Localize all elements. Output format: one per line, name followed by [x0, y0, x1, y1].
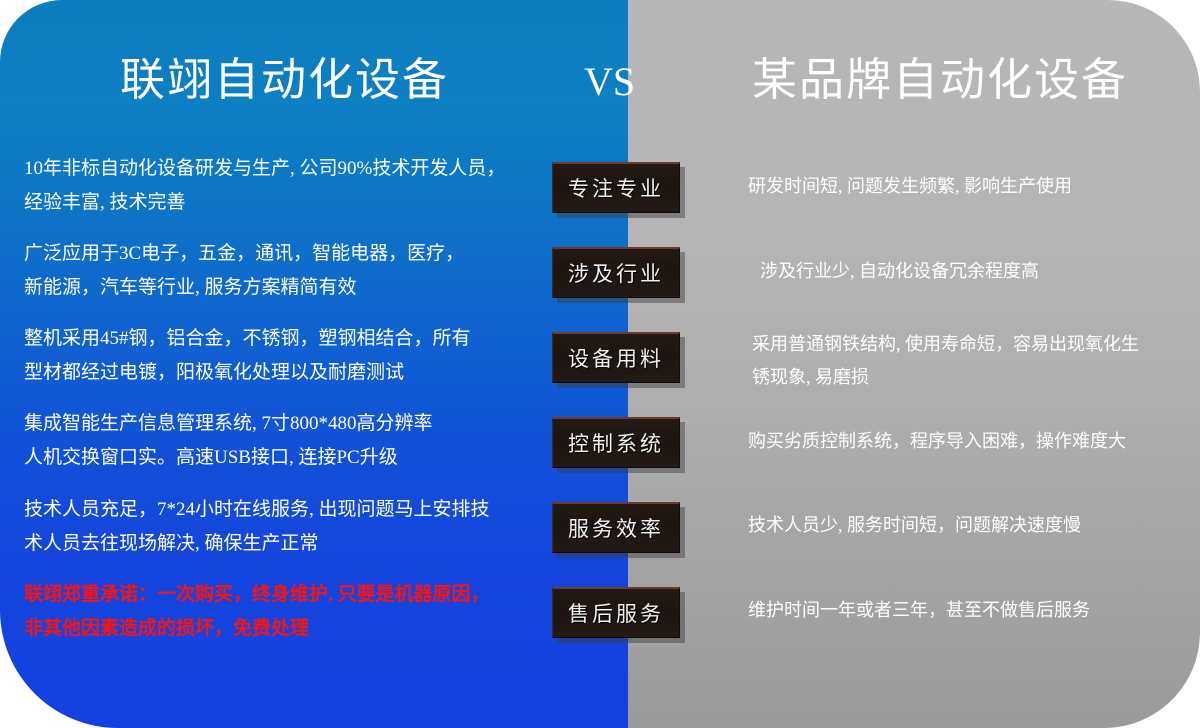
feature-line: 整机采用45#钢，铝合金，不锈钢，塑钢相结合，所有 — [24, 322, 471, 356]
category-badge: 服务效率 — [552, 502, 680, 553]
brand-feature-item: 技术人员充足，7*24小时在线服务, 出现问题马上安排技 术人员去往现场解决, … — [24, 493, 490, 561]
competitor-feature-item: 采用普通钢铁结构, 使用寿命短，容易出现氧化生 锈现象, 易磨损 — [752, 328, 1139, 394]
feature-line: 锈现象, 易磨损 — [752, 361, 1139, 394]
feature-line: 术人员去往现场解决, 确保生产正常 — [24, 527, 490, 561]
category-badge: 售后服务 — [552, 587, 680, 638]
feature-line: 新能源，汽车等行业, 服务方案精简有效 — [24, 271, 464, 305]
category-badge: 设备用料 — [552, 332, 680, 383]
category-badge-label: 涉及行业 — [568, 258, 664, 288]
competitor-feature-item: 研发时间短, 问题发生频繁, 影响生产使用 — [748, 170, 1072, 203]
category-badge-label: 售后服务 — [568, 598, 664, 628]
feature-line: 10年非标自动化设备研发与生产, 公司90%技术开发人员， — [24, 152, 505, 186]
feature-line: 广泛应用于3C电子，五金，通讯，智能电器，医疗， — [24, 237, 464, 271]
category-badge: 控制系统 — [552, 417, 680, 468]
brand-feature-item: 集成智能生产信息管理系统, 7寸800*480高分辨率 人机交换窗口实。高速US… — [24, 407, 433, 475]
category-badge-label: 控制系统 — [568, 428, 664, 458]
competitor-feature-item: 购买劣质控制系统，程序导入困难，操作难度大 — [748, 425, 1126, 458]
brand-guarantee-note: 联翊郑重承诺：一次购买，终身维护, 只要是机器原因， 非其他因素造成的损坏，免费… — [24, 578, 490, 646]
vs-label: VS — [584, 62, 635, 102]
guarantee-line: 联翊郑重承诺：一次购买，终身维护, 只要是机器原因， — [24, 578, 490, 612]
competitor-feature-item: 涉及行业少, 自动化设备冗余程度高 — [760, 255, 1039, 288]
feature-line: 集成智能生产信息管理系统, 7寸800*480高分辨率 — [24, 407, 433, 441]
feature-line: 人机交换窗口实。高速USB接口, 连接PC升级 — [24, 441, 433, 475]
brand-feature-item: 广泛应用于3C电子，五金，通讯，智能电器，医疗， 新能源，汽车等行业, 服务方案… — [24, 237, 464, 305]
feature-line: 涉及行业少, 自动化设备冗余程度高 — [760, 255, 1039, 288]
feature-line: 研发时间短, 问题发生频繁, 影响生产使用 — [748, 170, 1072, 203]
feature-line: 购买劣质控制系统，程序导入困难，操作难度大 — [748, 425, 1126, 458]
comparison-infographic: 联翊自动化设备 VS 某品牌自动化设备 10年非标自动化设备研发与生产, 公司9… — [0, 0, 1200, 728]
competitor-feature-item: 维护时间一年或者三年，甚至不做售后服务 — [748, 594, 1090, 627]
category-badge-label: 专注专业 — [568, 173, 664, 203]
category-badge: 涉及行业 — [552, 247, 680, 298]
feature-line: 技术人员充足，7*24小时在线服务, 出现问题马上安排技 — [24, 493, 490, 527]
brand-title: 联翊自动化设备 — [120, 58, 449, 103]
feature-line: 型材都经过电镀，阳极氧化处理以及耐磨测试 — [24, 356, 471, 390]
category-badge: 专注专业 — [552, 162, 680, 213]
brand-feature-item: 10年非标自动化设备研发与生产, 公司90%技术开发人员， 经验丰富, 技术完善 — [24, 152, 505, 220]
feature-line: 维护时间一年或者三年，甚至不做售后服务 — [748, 594, 1090, 627]
feature-line: 采用普通钢铁结构, 使用寿命短，容易出现氧化生 — [752, 328, 1139, 361]
category-badge-label: 服务效率 — [568, 513, 664, 543]
feature-line: 技术人员少, 服务时间短，问题解决速度慢 — [748, 509, 1081, 542]
category-badge-label: 设备用料 — [568, 343, 664, 373]
brand-feature-item: 整机采用45#钢，铝合金，不锈钢，塑钢相结合，所有 型材都经过电镀，阳极氧化处理… — [24, 322, 471, 390]
feature-line: 经验丰富, 技术完善 — [24, 186, 505, 220]
competitor-title: 某品牌自动化设备 — [752, 58, 1128, 103]
guarantee-line: 非其他因素造成的损坏，免费处理 — [24, 612, 490, 646]
competitor-feature-item: 技术人员少, 服务时间短，问题解决速度慢 — [748, 509, 1081, 542]
